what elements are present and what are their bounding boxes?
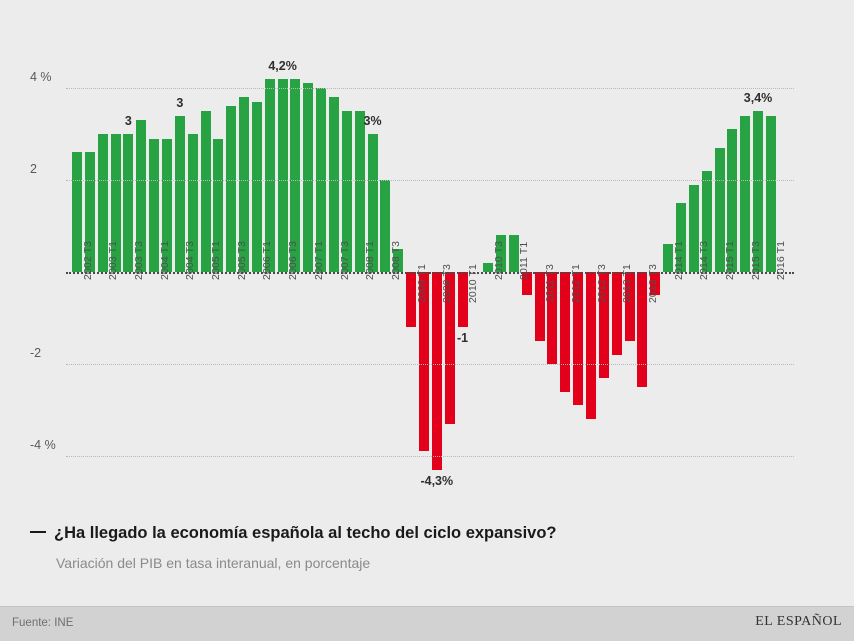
x-tick-label: 2016 T1 bbox=[775, 241, 787, 280]
source-note: Fuente: INE bbox=[12, 617, 73, 629]
x-tick-label: 2012 T3 bbox=[596, 264, 608, 303]
bar-2010-T1 bbox=[458, 272, 468, 327]
bar-2007-T3 bbox=[329, 97, 339, 272]
x-tick-label: 2003 T3 bbox=[133, 241, 145, 280]
x-tick-label: 2007 T1 bbox=[313, 241, 325, 280]
bar-2012-T1 bbox=[560, 272, 570, 392]
brand-logo: EL ESPAÑOL bbox=[755, 614, 842, 630]
gridline--2 bbox=[66, 364, 794, 365]
y-tick-label: -2 bbox=[30, 346, 41, 360]
x-tick-label: 2013 T1 bbox=[621, 264, 633, 303]
page-title: ¿Ha llegado la economía española al tech… bbox=[54, 524, 557, 542]
bar-2003-T3 bbox=[123, 134, 133, 272]
x-tick-label: 2009 T3 bbox=[441, 264, 453, 303]
bar-2009-T1 bbox=[406, 272, 416, 327]
gridline--4 bbox=[66, 456, 794, 457]
data-label: 3,4% bbox=[744, 91, 773, 105]
x-tick-label: 2009 T1 bbox=[416, 264, 428, 303]
headline-row: ¿Ha llegado la economía española al tech… bbox=[30, 524, 830, 543]
x-tick-label: 2015 T1 bbox=[724, 241, 736, 280]
x-tick-label: 2005 T3 bbox=[236, 241, 248, 280]
y-tick-label: -4 % bbox=[30, 438, 56, 452]
bar-2008-T3 bbox=[380, 180, 390, 272]
x-tick-label: 2002 T3 bbox=[82, 241, 94, 280]
x-tick-label: 2015 T3 bbox=[750, 241, 762, 280]
bar-2005-T1 bbox=[201, 111, 211, 272]
bar-2007-T1 bbox=[303, 83, 313, 272]
footer-bar: Fuente: INE EL ESPAÑOL bbox=[0, 606, 854, 641]
data-label: 3% bbox=[364, 114, 382, 128]
data-label: 3 bbox=[176, 96, 183, 110]
gridline-2 bbox=[66, 180, 794, 181]
x-tick-label: 2005 T1 bbox=[210, 241, 222, 280]
data-label: -1 bbox=[457, 331, 468, 345]
chart-area: 4 %2-2-4 % 2002 T32003 T12003 T32004 T12… bbox=[0, 0, 854, 515]
x-tick-label: 2008 T3 bbox=[390, 241, 402, 280]
x-tick-label: 2013 T3 bbox=[647, 264, 659, 303]
bar-2010-T3 bbox=[483, 263, 493, 272]
data-label: 3 bbox=[125, 114, 132, 128]
x-tick-label: 2007 T3 bbox=[339, 241, 351, 280]
x-tick-label: 2011 T1 bbox=[518, 242, 530, 280]
x-tick-label: 2004 T1 bbox=[159, 241, 171, 280]
bar-2013-T3 bbox=[637, 272, 647, 387]
bar-2015-T1 bbox=[715, 148, 725, 272]
x-tick-label: 2006 T3 bbox=[287, 241, 299, 280]
y-tick-label: 2 bbox=[30, 162, 37, 176]
x-tick-label: 2012 T1 bbox=[570, 264, 582, 303]
bar-2005-T3 bbox=[226, 106, 236, 272]
bar-2002-T3 bbox=[72, 152, 82, 272]
x-tick-label: 2004 T3 bbox=[184, 241, 196, 280]
bar-2004-T1 bbox=[149, 139, 159, 272]
dash-rule-icon bbox=[30, 531, 46, 533]
bar-2015-T3 bbox=[740, 116, 750, 272]
bar-2014-T1 bbox=[663, 244, 673, 272]
data-label: 4,2% bbox=[268, 59, 297, 73]
x-tick-label: 2014 T3 bbox=[698, 241, 710, 280]
x-tick-label: 2011 T3 bbox=[544, 264, 556, 302]
gridline-4 bbox=[66, 88, 794, 89]
x-tick-label: 2010 T1 bbox=[467, 264, 479, 303]
caption-block: ¿Ha llegado la economía española al tech… bbox=[30, 524, 830, 571]
x-tick-label: 2006 T1 bbox=[261, 241, 273, 280]
infographic-root: 4 %2-2-4 % 2002 T32003 T12003 T32004 T12… bbox=[0, 0, 854, 640]
x-tick-label: 2014 T1 bbox=[673, 241, 685, 280]
bar-2012-T3 bbox=[586, 272, 596, 419]
x-tick-label: 2008 T1 bbox=[364, 241, 376, 280]
x-tick-label: 2010 T3 bbox=[493, 241, 505, 280]
data-label: -4,3% bbox=[420, 474, 453, 488]
x-tick-label: 2003 T1 bbox=[107, 241, 119, 280]
y-tick-label: 4 % bbox=[30, 70, 52, 84]
subtitle: Variación del PIB en tasa interanual, en… bbox=[56, 555, 830, 571]
